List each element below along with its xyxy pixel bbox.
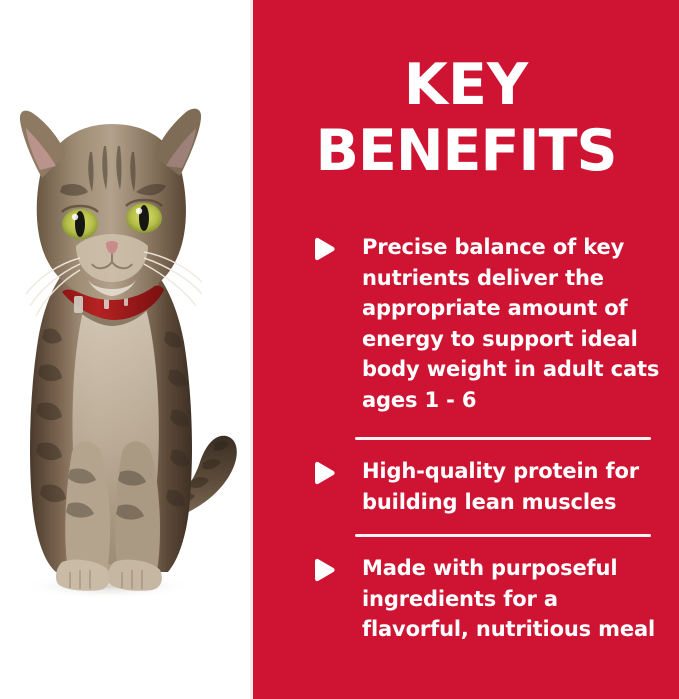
page-title: KEY BENEFITS bbox=[253, 52, 679, 184]
list-item: Made with purposeful ingredients for a f… bbox=[253, 553, 679, 645]
collar-buckle bbox=[74, 296, 83, 313]
triangle-right-icon bbox=[311, 558, 337, 582]
key-benefits-panel: KEY BENEFITS Precise balance of key nutr… bbox=[253, 0, 679, 699]
benefit-text: Precise balance of key nutrients deliver… bbox=[313, 232, 661, 415]
key-benefits-product-graphic: KEY BENEFITS Precise balance of key nutr… bbox=[0, 0, 679, 699]
cat-photo-panel bbox=[0, 0, 252, 699]
page-title-line-1: KEY bbox=[253, 52, 679, 118]
triangle-right-icon bbox=[311, 461, 337, 485]
benefit-text: Made with purposeful ingredients for a f… bbox=[313, 553, 661, 645]
benefit-text: High-quality protein for building lean m… bbox=[313, 456, 661, 517]
benefit-list: Precise balance of key nutrients deliver… bbox=[253, 232, 679, 645]
list-divider bbox=[355, 534, 651, 537]
page-title-line-2: BENEFITS bbox=[253, 118, 679, 184]
list-item: High-quality protein for building lean m… bbox=[253, 456, 679, 517]
triangle-right-icon bbox=[311, 237, 337, 261]
list-item: Precise balance of key nutrients deliver… bbox=[253, 232, 679, 415]
cat-photo bbox=[0, 0, 252, 699]
list-divider bbox=[355, 437, 651, 440]
